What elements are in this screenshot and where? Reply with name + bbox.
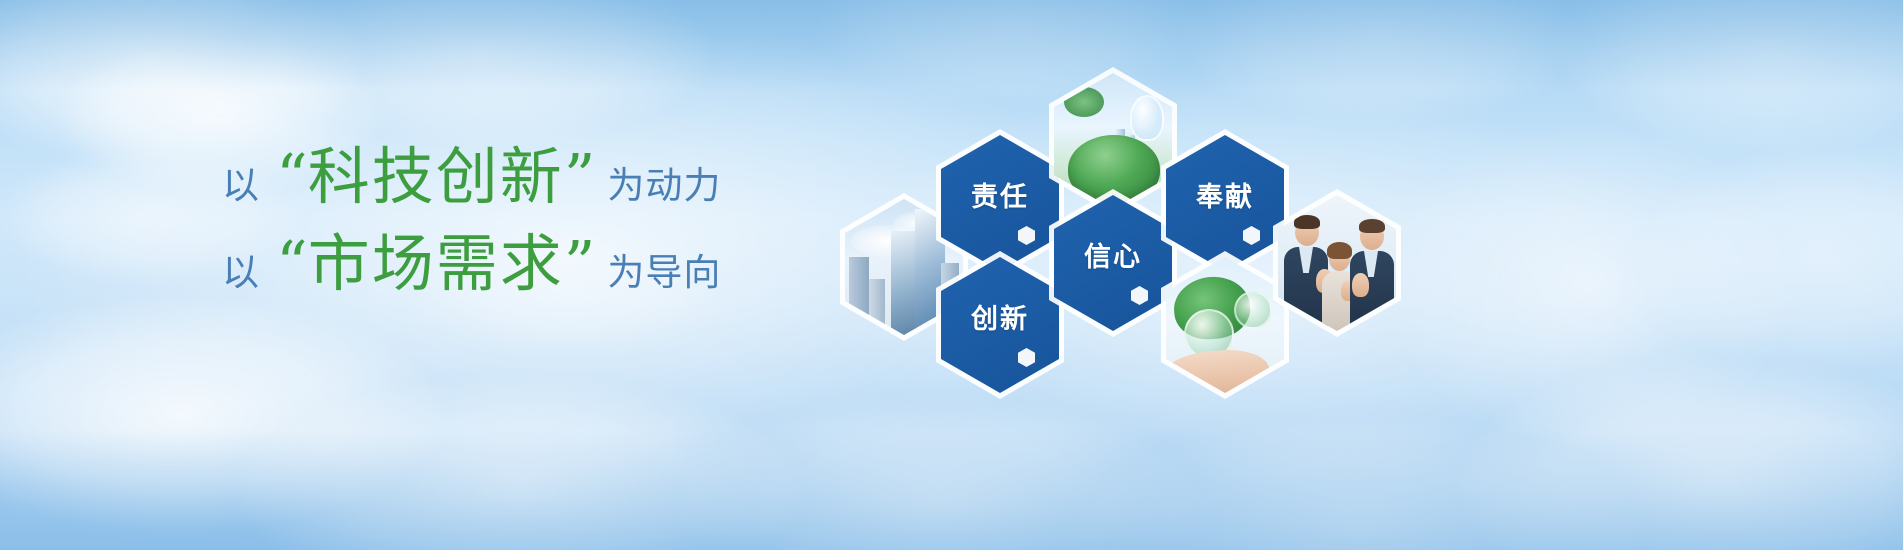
headline-line-1-open-quote: “	[276, 140, 308, 213]
hex-label-dedication-text: 奉献	[1196, 175, 1254, 214]
headline-line-1-suffix: 为动力	[607, 155, 721, 209]
headline-line-1-accent: 科技创新	[308, 144, 564, 209]
hexagon-accent-icon	[1243, 226, 1260, 245]
hex-label-responsibility-text: 责任	[971, 175, 1029, 214]
hexagon-accent-icon	[1018, 226, 1035, 245]
headline-line-1: 以 “ 科技创新 ” 为动力	[222, 140, 782, 213]
promo-banner: 以 “ 科技创新 ” 为动力 以 “ 市场需求 ” 为导向 责任	[0, 0, 1903, 550]
hex-label-confidence-text: 信心	[1084, 235, 1142, 274]
hexagon-cluster: 责任 创新 信心 奉献	[830, 55, 1410, 405]
headline-line-2-close-quote: ”	[564, 227, 596, 300]
bottom-vignette	[0, 430, 1903, 550]
headline-line-2: 以 “ 市场需求 ” 为导向	[222, 227, 782, 300]
headline-line-2-prefix: 以	[222, 242, 260, 296]
headline-block: 以 “ 科技创新 ” 为动力 以 “ 市场需求 ” 为导向	[222, 140, 782, 314]
hexagon-accent-icon	[1131, 286, 1148, 305]
headline-line-2-open-quote: “	[276, 227, 308, 300]
headline-line-1-close-quote: ”	[564, 140, 596, 213]
headline-line-2-accent: 市场需求	[308, 231, 564, 296]
hex-label-innovation-text: 创新	[971, 297, 1029, 336]
headline-line-2-suffix: 为导向	[607, 242, 721, 296]
hexagon-accent-icon	[1018, 348, 1035, 367]
headline-line-1-prefix: 以	[222, 155, 260, 209]
